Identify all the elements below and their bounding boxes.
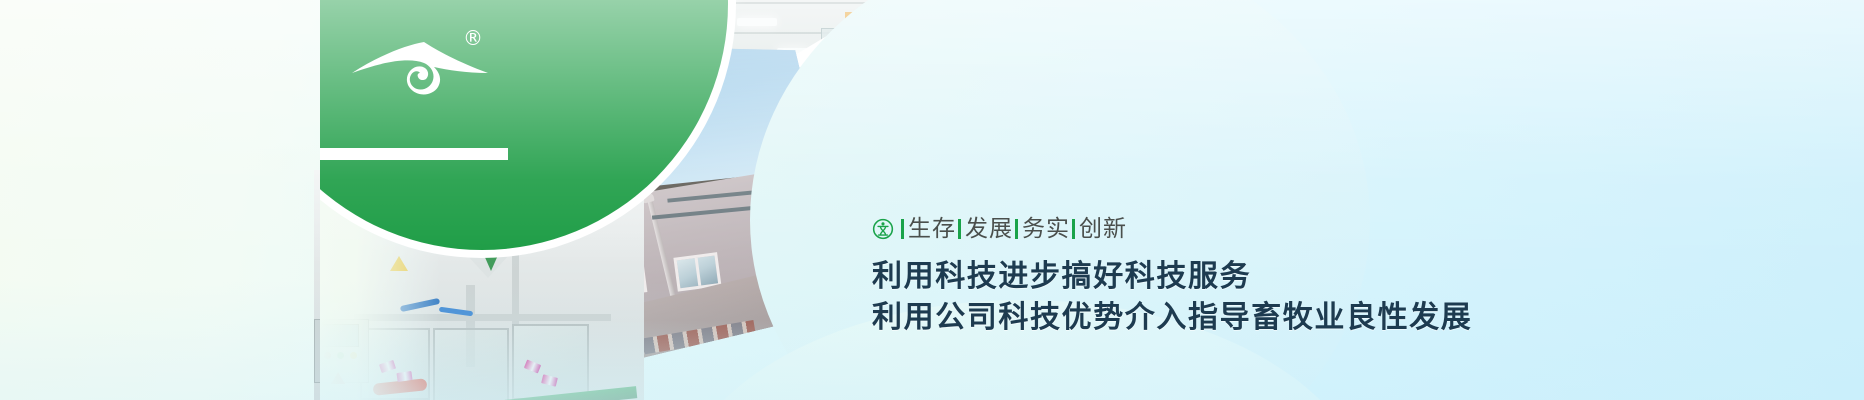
banner-text-block: 生存 发展 务实 创新 利用科技进步搞好科技服务 利用公司科技优势介入指导畜牧业… — [872, 214, 1692, 338]
wave-bird-logo-icon — [348, 40, 508, 102]
tagline-word-0: 生存 — [908, 216, 956, 242]
registered-trademark-mark: ® — [463, 29, 482, 48]
tagline-word-1: 发展 — [965, 216, 1013, 242]
person-circle-icon — [872, 218, 894, 240]
tagline-separator-1 — [958, 219, 961, 239]
tagline-word-3: 创新 — [1079, 216, 1127, 242]
hero-banner: ® 生存 发展 务实 创新 利用科技进步搞好科技服务 利用公司科技优势介入指导畜… — [0, 0, 1864, 400]
tagline-separator-0 — [901, 219, 904, 239]
brand-disc-left-edge — [320, 148, 508, 160]
headline-line-1: 利用科技进步搞好科技服务 — [872, 256, 1692, 297]
brand-disc: ® — [320, 0, 750, 400]
headline-line-2: 利用公司科技优势介入指导畜牧业良性发展 — [872, 297, 1692, 338]
cleanroom-door — [861, 22, 905, 215]
tagline-separator-3 — [1072, 219, 1075, 239]
tagline-separator-2 — [1015, 219, 1018, 239]
banner-sheen — [0, 0, 1864, 400]
company-tagline: 生存 发展 务实 创新 — [872, 214, 1692, 244]
cleanroom-door — [821, 28, 863, 208]
tagline-word-2: 务实 — [1022, 216, 1070, 242]
